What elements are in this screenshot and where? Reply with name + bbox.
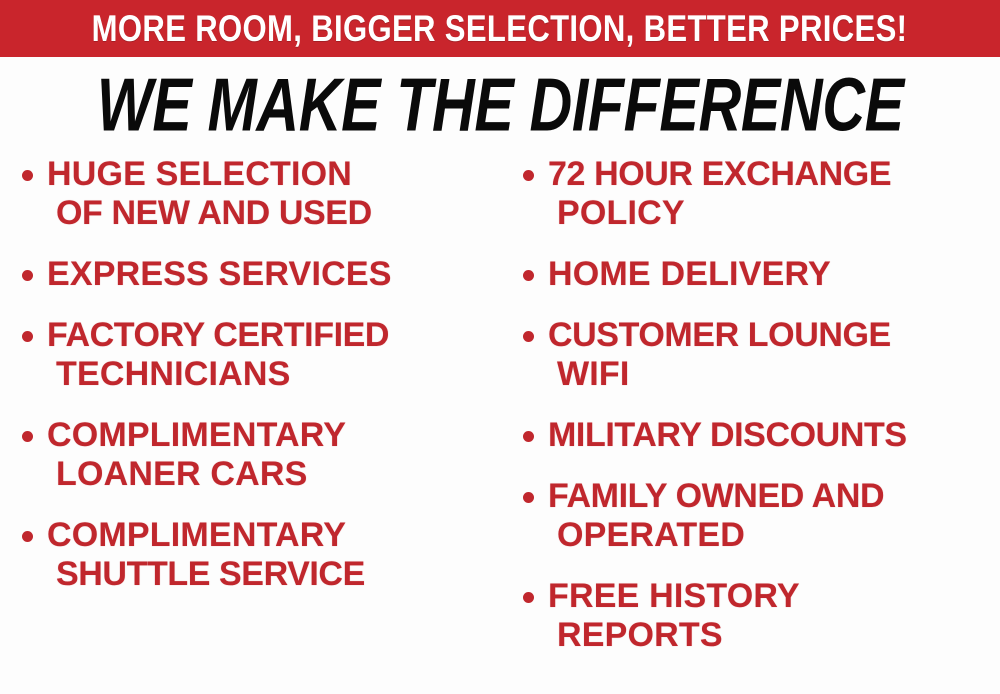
bullet-dot-icon xyxy=(523,592,534,603)
benefit-item: COMPLIMENTARYLOANER CARS xyxy=(22,416,500,494)
bullet-dot-icon xyxy=(523,431,534,442)
main-headline-container: WE MAKE THE DIFFERENCE xyxy=(0,72,1000,138)
benefit-item: MILITARY DISCOUNTS xyxy=(523,416,1000,455)
top-banner: MORE ROOM, BIGGER SELECTION, BETTER PRIC… xyxy=(0,0,1000,57)
bullet-dot-icon xyxy=(22,431,33,442)
main-headline: WE MAKE THE DIFFERENCE xyxy=(97,72,904,138)
benefits-columns: HUGE SELECTIONOF NEW AND USEDEXPRESS SER… xyxy=(0,155,1000,694)
benefit-text-block: FAMILY OWNED ANDOPERATED xyxy=(548,477,1000,555)
benefit-text-block: EXPRESS SERVICES xyxy=(47,255,500,294)
bullet-dot-icon xyxy=(22,270,33,281)
benefit-text-block: 72 HOUR EXCHANGEPOLICY xyxy=(548,155,1000,233)
benefit-line-continued: WIFI xyxy=(548,355,1000,394)
bullet-dot-icon xyxy=(523,331,534,342)
benefit-text-block: FREE HISTORYREPORTS xyxy=(548,577,1000,655)
benefit-item: CUSTOMER LOUNGEWIFI xyxy=(523,316,1000,394)
benefit-text-block: COMPLIMENTARYSHUTTLE SERVICE xyxy=(47,516,500,594)
benefit-line-continued: REPORTS xyxy=(548,616,1000,655)
benefits-column-left: HUGE SELECTIONOF NEW AND USEDEXPRESS SER… xyxy=(22,155,500,616)
benefit-item: FACTORY CERTIFIEDTECHNICIANS xyxy=(22,316,500,394)
benefit-item: FREE HISTORYREPORTS xyxy=(523,577,1000,655)
benefit-line-continued: LOANER CARS xyxy=(47,455,500,494)
benefit-text-block: HOME DELIVERY xyxy=(548,255,1000,294)
benefit-line-continued: SHUTTLE SERVICE xyxy=(47,555,500,594)
advertisement-poster: MORE ROOM, BIGGER SELECTION, BETTER PRIC… xyxy=(0,0,1000,694)
benefit-line-primary: 72 HOUR EXCHANGE xyxy=(548,155,1000,194)
benefit-item: 72 HOUR EXCHANGEPOLICY xyxy=(523,155,1000,233)
benefit-line-continued: TECHNICIANS xyxy=(47,355,500,394)
bullet-dot-icon xyxy=(523,270,534,281)
bullet-dot-icon xyxy=(22,531,33,542)
benefit-line-primary: FACTORY CERTIFIED xyxy=(47,316,500,355)
benefit-line-primary: FAMILY OWNED AND xyxy=(548,477,1000,516)
benefit-line-primary: MILITARY DISCOUNTS xyxy=(548,416,1000,455)
benefit-item: FAMILY OWNED ANDOPERATED xyxy=(523,477,1000,555)
benefit-item: HUGE SELECTIONOF NEW AND USED xyxy=(22,155,500,233)
banner-headline-text: MORE ROOM, BIGGER SELECTION, BETTER PRIC… xyxy=(92,10,908,47)
bullet-dot-icon xyxy=(523,170,534,181)
benefit-line-continued: POLICY xyxy=(548,194,1000,233)
benefit-line-primary: FREE HISTORY xyxy=(548,577,1000,616)
benefit-line-primary: HUGE SELECTION xyxy=(47,155,500,194)
benefit-line-primary: COMPLIMENTARY xyxy=(47,516,500,555)
bullet-dot-icon xyxy=(22,170,33,181)
bullet-dot-icon xyxy=(523,492,534,503)
benefit-item: HOME DELIVERY xyxy=(523,255,1000,294)
benefit-text-block: HUGE SELECTIONOF NEW AND USED xyxy=(47,155,500,233)
benefit-line-primary: EXPRESS SERVICES xyxy=(47,255,500,294)
benefit-line-primary: CUSTOMER LOUNGE xyxy=(548,316,1000,355)
benefit-line-primary: HOME DELIVERY xyxy=(548,255,1000,294)
benefit-text-block: CUSTOMER LOUNGEWIFI xyxy=(548,316,1000,394)
benefit-text-block: FACTORY CERTIFIEDTECHNICIANS xyxy=(47,316,500,394)
benefits-column-right: 72 HOUR EXCHANGEPOLICYHOME DELIVERYCUSTO… xyxy=(523,155,1000,677)
benefit-line-continued: OPERATED xyxy=(548,516,1000,555)
benefit-text-block: COMPLIMENTARYLOANER CARS xyxy=(47,416,500,494)
benefit-text-block: MILITARY DISCOUNTS xyxy=(548,416,1000,455)
bullet-dot-icon xyxy=(22,331,33,342)
benefit-item: COMPLIMENTARYSHUTTLE SERVICE xyxy=(22,516,500,594)
benefit-item: EXPRESS SERVICES xyxy=(22,255,500,294)
benefit-line-primary: COMPLIMENTARY xyxy=(47,416,500,455)
benefit-line-continued: OF NEW AND USED xyxy=(47,194,500,233)
